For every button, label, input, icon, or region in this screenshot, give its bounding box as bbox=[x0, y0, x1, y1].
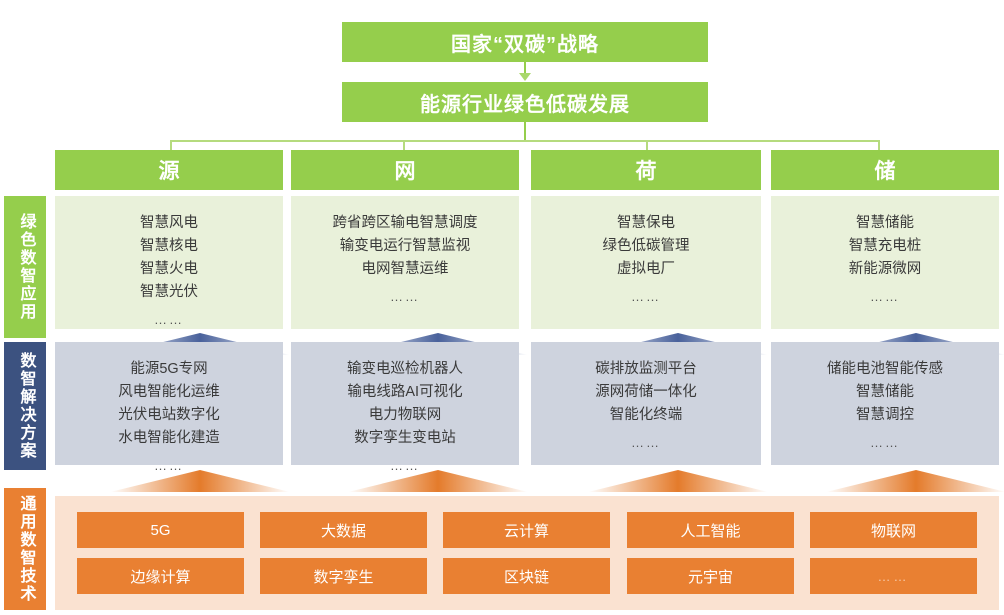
cell-item: 智慧火电 bbox=[140, 258, 198, 281]
cell-item: 智慧保电 bbox=[617, 212, 675, 235]
tech-panel: 5G大数据云计算人工智能物联网边缘计算数字孪生区块链元宇宙…… bbox=[55, 496, 999, 610]
cell-item: 智慧充电桩 bbox=[849, 235, 922, 258]
tech-tag[interactable]: 数字孪生 bbox=[260, 558, 427, 594]
column-header-grid[interactable]: 网 bbox=[291, 150, 519, 190]
connector-line-mid bbox=[524, 122, 526, 142]
cell-item: 储能电池智能传感 bbox=[827, 358, 943, 381]
cell-item: 智慧风电 bbox=[140, 212, 198, 235]
cell-solution-source: 能源5G专网风电智能化运维光伏电站数字化水电智能化建造…… bbox=[55, 342, 283, 465]
cell-item: 新能源微网 bbox=[849, 258, 922, 281]
cell-ellipsis: …… bbox=[631, 287, 661, 308]
tech-tag[interactable]: 元宇宙 bbox=[627, 558, 794, 594]
cell-item: 智慧储能 bbox=[856, 212, 914, 235]
column-header-source[interactable]: 源 bbox=[55, 150, 283, 190]
cell-item: 输变电巡检机器人 bbox=[347, 358, 463, 381]
arrow-up-orange-2 bbox=[348, 468, 528, 494]
cell-item: 跨省跨区输电智慧调度 bbox=[333, 212, 478, 235]
tech-tag[interactable]: 云计算 bbox=[443, 512, 610, 548]
tech-tag[interactable]: 边缘计算 bbox=[77, 558, 244, 594]
cell-item: 智慧光伏 bbox=[140, 281, 198, 304]
tech-tag[interactable]: 物联网 bbox=[810, 512, 977, 548]
cell-item: 智慧储能 bbox=[856, 381, 914, 404]
column-header-load[interactable]: 荷 bbox=[531, 150, 761, 190]
cell-green-load: 智慧保电绿色低碳管理虚拟电厂…… bbox=[531, 196, 761, 329]
sidebar-tab-general-tech[interactable]: 通用数智技术 bbox=[4, 488, 46, 610]
cell-ellipsis: …… bbox=[870, 287, 900, 308]
cell-item: 能源5G专网 bbox=[130, 358, 207, 381]
arrow-up-orange-3 bbox=[588, 468, 768, 494]
cell-item: 智能化终端 bbox=[610, 404, 683, 427]
cell-green-source: 智慧风电智慧核电智慧火电智慧光伏…… bbox=[55, 196, 283, 329]
column-header-storage[interactable]: 储 bbox=[771, 150, 999, 190]
tech-tag[interactable]: 人工智能 bbox=[627, 512, 794, 548]
banner-energy-green-development: 能源行业绿色低碳发展 bbox=[342, 82, 708, 122]
cell-item: 虚拟电厂 bbox=[617, 258, 675, 281]
tech-tag[interactable]: 区块链 bbox=[443, 558, 610, 594]
tech-tag[interactable]: 大数据 bbox=[260, 512, 427, 548]
cell-ellipsis: …… bbox=[154, 310, 184, 331]
sidebar-tab-solutions[interactable]: 数智解决方案 bbox=[4, 342, 46, 470]
tech-tag[interactable]: 5G bbox=[77, 512, 244, 548]
arrow-down-icon bbox=[519, 73, 531, 81]
cell-item: 智慧核电 bbox=[140, 235, 198, 258]
cell-ellipsis: …… bbox=[631, 433, 661, 454]
cell-green-storage: 智慧储能智慧充电桩新能源微网…… bbox=[771, 196, 999, 329]
cell-solution-load: 碳排放监测平台源网荷储一体化智能化终端…… bbox=[531, 342, 761, 465]
connector-bus-line bbox=[170, 140, 879, 142]
cell-solution-grid: 输变电巡检机器人输电线路AI可视化电力物联网数字孪生变电站…… bbox=[291, 342, 519, 465]
sidebar-tab-green-applications[interactable]: 绿色数智应用 bbox=[4, 196, 46, 338]
cell-item: 风电智能化运维 bbox=[118, 381, 220, 404]
cell-item: 源网荷储一体化 bbox=[595, 381, 697, 404]
cell-ellipsis: …… bbox=[390, 287, 420, 308]
cell-green-grid: 跨省跨区输电智慧调度输变电运行智慧监视电网智慧运维…… bbox=[291, 196, 519, 329]
cell-item: 智慧调控 bbox=[856, 404, 914, 427]
cell-item: 光伏电站数字化 bbox=[118, 404, 220, 427]
cell-item: 水电智能化建造 bbox=[118, 427, 220, 450]
tech-tag[interactable]: …… bbox=[810, 558, 977, 594]
cell-item: 输电线路AI可视化 bbox=[347, 381, 462, 404]
cell-item: 绿色低碳管理 bbox=[603, 235, 690, 258]
cell-item: 输变电运行智慧监视 bbox=[340, 235, 471, 258]
cell-item: 电力物联网 bbox=[369, 404, 442, 427]
arrow-up-orange-4 bbox=[826, 468, 1004, 494]
cell-item: 数字孪生变电站 bbox=[354, 427, 456, 450]
cell-item: 碳排放监测平台 bbox=[595, 358, 697, 381]
banner-national-strategy: 国家“双碳”战略 bbox=[342, 22, 708, 62]
cell-ellipsis: …… bbox=[870, 433, 900, 454]
cell-item: 电网智慧运维 bbox=[362, 258, 449, 281]
arrow-up-orange-1 bbox=[110, 468, 290, 494]
cell-solution-storage: 储能电池智能传感智慧储能智慧调控…… bbox=[771, 342, 999, 465]
